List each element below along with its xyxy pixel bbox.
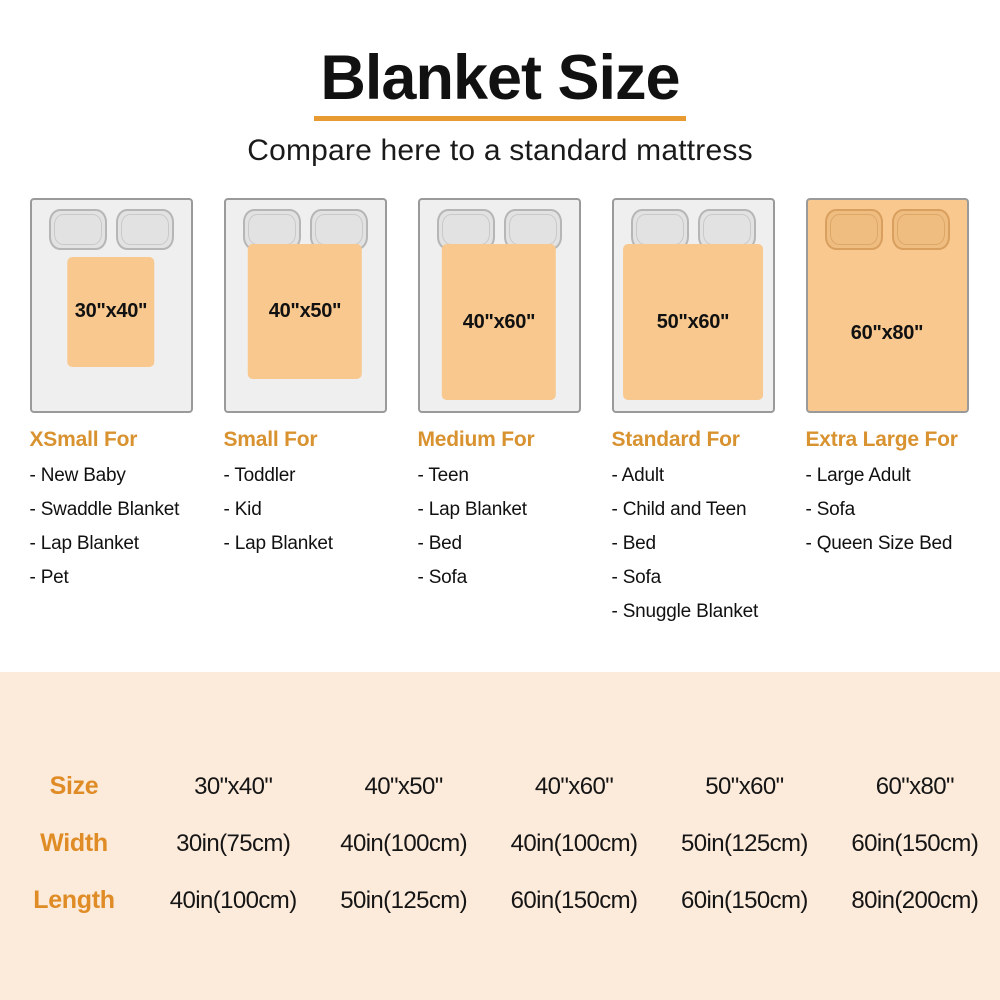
blanket-size-label: 30"x40": [75, 300, 147, 323]
usage-column: Small For- Toddler- Kid- Lap Blanket: [224, 428, 389, 635]
usage-column: Extra Large For- Large Adult- Sofa- Quee…: [806, 428, 971, 635]
header: Blanket Size Compare here to a standard …: [0, 0, 1000, 168]
blanket-size-label: 40"x50": [269, 300, 341, 323]
spec-cell: 40"x50": [318, 773, 488, 801]
spec-cell: 40in(100cm): [148, 887, 318, 915]
usage-heading: Medium For: [418, 428, 583, 452]
usage-column: XSmall For- New Baby- Swaddle Blanket- L…: [30, 428, 195, 635]
spec-row: Length40in(100cm)50in(125cm)60in(150cm)6…: [0, 872, 1000, 929]
pillow-icon: [49, 209, 107, 250]
pillow-pair: [808, 209, 967, 250]
mattress-40x60: 40"x60": [418, 198, 581, 413]
usage-list-item: - Adult: [612, 465, 777, 487]
usage-list-item: - Pet: [30, 567, 195, 589]
spec-row: Width30in(75cm)40in(100cm)40in(100cm)50i…: [0, 815, 1000, 872]
spec-cell: 60"x80": [830, 773, 1000, 801]
mattress-30x40: 30"x40": [30, 198, 193, 413]
bed-column: 40"x60": [418, 198, 583, 413]
usage-list-item: - Snuggle Blanket: [612, 601, 777, 623]
bed-column: 30"x40": [30, 198, 195, 413]
usage-list-item: - Child and Teen: [612, 499, 777, 521]
spec-cell: 40"x60": [489, 773, 659, 801]
spec-cell: 40in(100cm): [489, 830, 659, 858]
pillow-pair: [32, 209, 191, 250]
spec-cell: 30"x40": [148, 773, 318, 801]
blanket-rect: 50"x60": [623, 244, 763, 400]
spec-cell: 30in(75cm): [148, 830, 318, 858]
spec-row: Size30"x40"40"x50"40"x60"50"x60"60"x80": [0, 758, 1000, 815]
pillow-icon: [116, 209, 174, 250]
spec-row-label: Length: [0, 886, 148, 915]
blanket-size-label: 40"x60": [463, 311, 535, 334]
usage-column: Medium For- Teen- Lap Blanket- Bed- Sofa: [418, 428, 583, 635]
usage-list-item: - Sofa: [418, 567, 583, 589]
spec-table: Size30"x40"40"x50"40"x60"50"x60"60"x80"W…: [0, 758, 1000, 929]
usage-list-item: - Sofa: [612, 567, 777, 589]
spec-table-section: Size30"x40"40"x50"40"x60"50"x60"60"x80"W…: [0, 672, 1000, 1000]
usage-list-item: - Swaddle Blanket: [30, 499, 195, 521]
usage-list-item: - Lap Blanket: [418, 499, 583, 521]
mattress-60x80: 60"x80": [806, 198, 969, 413]
blanket-rect: 40"x60": [442, 244, 556, 400]
spec-cell: 50in(125cm): [659, 830, 829, 858]
usage-list-item: - Teen: [418, 465, 583, 487]
usage-list-row: XSmall For- New Baby- Swaddle Blanket- L…: [0, 428, 1000, 635]
spec-row-label: Width: [0, 829, 148, 858]
spec-cell: 50in(125cm): [318, 887, 488, 915]
usage-list-item: - Bed: [612, 533, 777, 555]
bed-column: 40"x50": [224, 198, 389, 413]
bed-column: 60"x80": [806, 198, 971, 413]
usage-list-item: - Toddler: [224, 465, 389, 487]
usage-list-item: - New Baby: [30, 465, 195, 487]
bed-diagram-row: 30"x40"40"x50"40"x60"50"x60"60"x80": [0, 198, 1000, 413]
usage-heading: Standard For: [612, 428, 777, 452]
usage-heading: Small For: [224, 428, 389, 452]
page-subtitle: Compare here to a standard mattress: [0, 134, 1000, 168]
blanket-size-infographic: Blanket Size Compare here to a standard …: [0, 0, 1000, 1000]
usage-column: Standard For- Adult- Child and Teen- Bed…: [612, 428, 777, 635]
spec-cell: 40in(100cm): [318, 830, 488, 858]
usage-list-item: - Kid: [224, 499, 389, 521]
spec-cell: 80in(200cm): [830, 887, 1000, 915]
spec-cell: 60in(150cm): [659, 887, 829, 915]
blanket-rect: 40"x50": [248, 244, 362, 379]
mattress-40x50: 40"x50": [224, 198, 387, 413]
bed-column: 50"x60": [612, 198, 777, 413]
blanket-size-label: 50"x60": [657, 311, 729, 334]
blanket-size-label: 60"x80": [808, 322, 967, 345]
usage-list-item: - Queen Size Bed: [806, 533, 971, 555]
usage-list-item: - Sofa: [806, 499, 971, 521]
pillow-icon: [892, 209, 950, 250]
spec-cell: 60in(150cm): [489, 887, 659, 915]
spec-row-label: Size: [0, 772, 148, 801]
usage-heading: XSmall For: [30, 428, 195, 452]
spec-cell: 60in(150cm): [830, 830, 1000, 858]
page-title: Blanket Size: [314, 46, 685, 121]
usage-list-item: - Bed: [418, 533, 583, 555]
blanket-rect: 30"x40": [67, 257, 154, 367]
usage-list-item: - Lap Blanket: [30, 533, 195, 555]
usage-heading: Extra Large For: [806, 428, 971, 452]
spec-cell: 50"x60": [659, 773, 829, 801]
usage-list-item: - Large Adult: [806, 465, 971, 487]
pillow-icon: [825, 209, 883, 250]
mattress-50x60: 50"x60": [612, 198, 775, 413]
usage-list-item: - Lap Blanket: [224, 533, 389, 555]
